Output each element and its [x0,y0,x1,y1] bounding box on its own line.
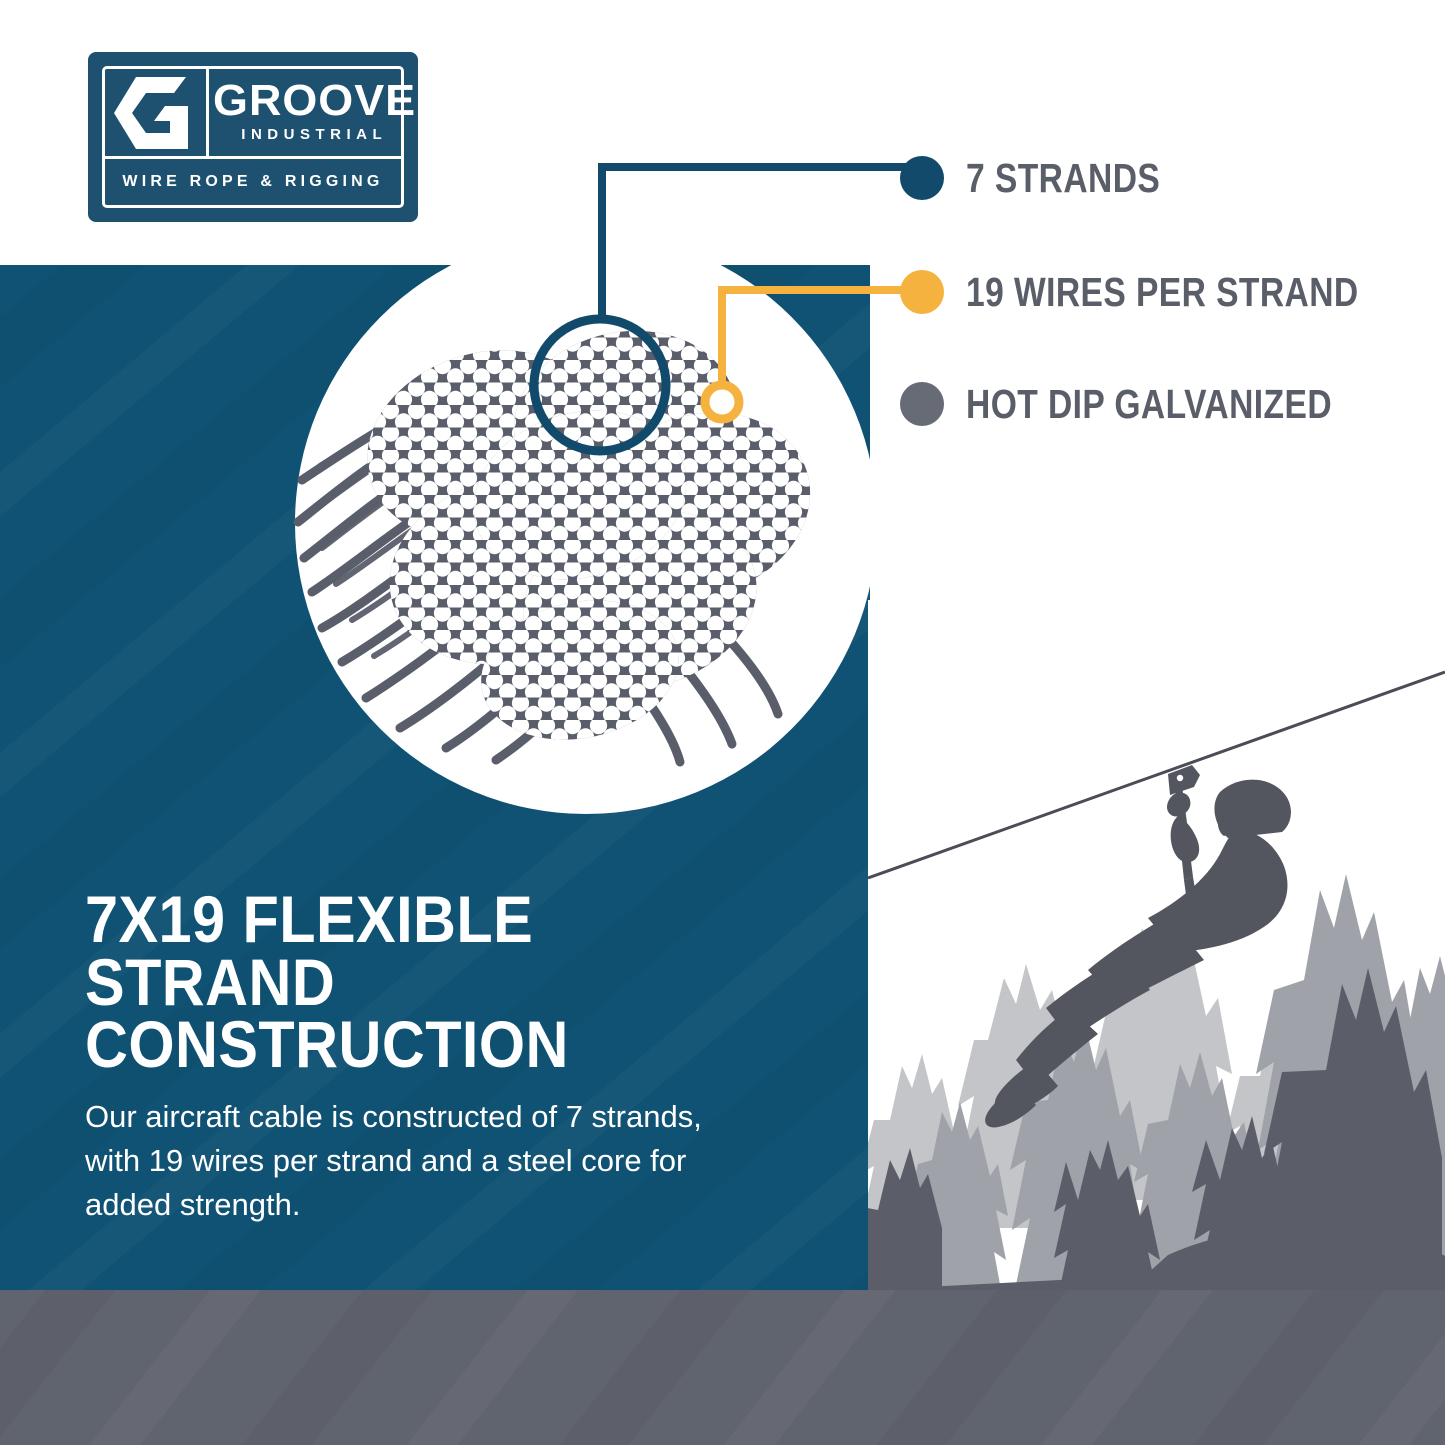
callout-label: 19 WIRES PER STRAND [966,272,1359,313]
brand-logo[interactable]: GROOVE INDUSTRIAL WIRE ROPE & RIGGING [88,52,418,222]
logo-inner-frame: GROOVE INDUSTRIAL WIRE ROPE & RIGGING [102,66,404,208]
logo-top-row: GROOVE INDUSTRIAL [105,69,401,159]
callout-item-7-strands[interactable]: 7 STRANDS [900,156,1203,200]
logo-subtitle: INDUSTRIAL [241,126,387,143]
callout-dot-icon [900,156,944,200]
callout-label: 7 STRANDS [966,158,1160,199]
single-wire-marker-ring [705,385,739,419]
logo-name: GROOVE [213,80,416,122]
orange-elbow-line [722,290,922,398]
logo-wordmark: GROOVE INDUSTRIAL [209,69,420,156]
logo-tagline-row: WIRE ROPE & RIGGING [105,159,401,205]
page-title: 7X19 FLEXIBLE STRAND CONSTRUCTION [85,888,769,1076]
body-paragraph: Our aircraft cable is constructed of 7 s… [85,1095,740,1227]
infographic-canvas: GROOVE INDUSTRIAL WIRE ROPE & RIGGING [0,0,1445,1445]
callout-dot-icon [900,382,944,426]
callout-item-19-wires[interactable]: 19 WIRES PER STRAND [900,270,1445,314]
headline-line-2: STRAND CONSTRUCTION [85,951,769,1076]
footer-bar [0,1290,1445,1445]
zipline-photo-illustration [868,600,1445,1300]
callout-dot-icon [900,270,944,314]
callout-label: HOT DIP GALVANIZED [966,384,1332,425]
footer-stripe-texture [0,1290,1445,1445]
logo-tagline: WIRE ROPE & RIGGING [122,173,383,191]
logo-frame: GROOVE INDUSTRIAL WIRE ROPE & RIGGING [88,52,418,222]
callout-item-hot-dip-galvanized[interactable]: HOT DIP GALVANIZED [900,382,1412,426]
g-hexagon-mark-icon [105,69,209,156]
